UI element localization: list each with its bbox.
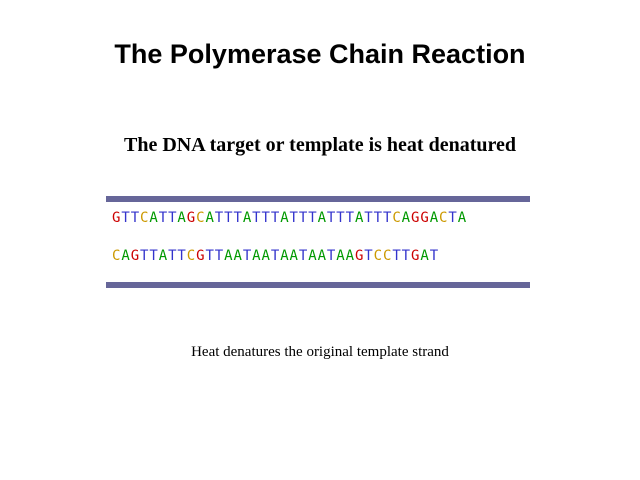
nucleotide-T: T [308, 210, 317, 226]
nucleotide-C: C [439, 210, 448, 226]
nucleotide-A: A [290, 248, 299, 264]
nucleotide-C: C [383, 248, 392, 264]
nucleotide-G: G [420, 210, 429, 226]
nucleotide-G: G [411, 210, 420, 226]
nucleotide-T: T [271, 210, 280, 226]
nucleotide-A: A [336, 248, 345, 264]
bottom-strand-sequence: CAGTTATTCGTTAATAATAATAATAAGTCCTTGAT [112, 248, 530, 264]
nucleotide-T: T [374, 210, 383, 226]
nucleotide-T: T [168, 248, 177, 264]
nucleotide-C: C [187, 248, 196, 264]
nucleotide-C: C [140, 210, 149, 226]
nucleotide-T: T [177, 248, 186, 264]
nucleotide-T: T [327, 210, 336, 226]
nucleotide-T: T [383, 210, 392, 226]
nucleotide-T: T [290, 210, 299, 226]
nucleotide-A: A [177, 210, 186, 226]
nucleotide-A: A [243, 210, 252, 226]
nucleotide-A: A [252, 248, 261, 264]
nucleotide-T: T [243, 248, 252, 264]
bottom-strand-backbone-bar [106, 282, 530, 288]
nucleotide-A: A [458, 210, 467, 226]
slide-subtitle: The DNA target or template is heat denat… [0, 132, 640, 158]
nucleotide-A: A [430, 210, 439, 226]
nucleotide-G: G [187, 210, 196, 226]
nucleotide-C: C [392, 210, 401, 226]
slide-caption: Heat denatures the original template str… [0, 342, 640, 362]
nucleotide-T: T [364, 248, 373, 264]
nucleotide-T: T [205, 248, 214, 264]
nucleotide-A: A [159, 248, 168, 264]
top-strand-sequence: GTTCATTAGCATTTATTTATTTATTTATTTCAGGACTA [112, 210, 530, 226]
nucleotide-T: T [159, 210, 168, 226]
nucleotide-T: T [448, 210, 457, 226]
nucleotide-T: T [430, 248, 439, 264]
nucleotide-A: A [233, 248, 242, 264]
nucleotide-A: A [205, 210, 214, 226]
nucleotide-A: A [121, 248, 130, 264]
nucleotide-T: T [215, 248, 224, 264]
nucleotide-C: C [374, 248, 383, 264]
nucleotide-T: T [262, 210, 271, 226]
page-title: The Polymerase Chain Reaction [0, 38, 640, 70]
nucleotide-T: T [346, 210, 355, 226]
nucleotide-A: A [280, 210, 289, 226]
nucleotide-A: A [262, 248, 271, 264]
nucleotide-A: A [308, 248, 317, 264]
slide-canvas: The Polymerase Chain Reaction The DNA ta… [0, 0, 640, 480]
nucleotide-T: T [271, 248, 280, 264]
nucleotide-T: T [336, 210, 345, 226]
nucleotide-T: T [215, 210, 224, 226]
nucleotide-T: T [140, 248, 149, 264]
nucleotide-G: G [131, 248, 140, 264]
nucleotide-T: T [364, 210, 373, 226]
nucleotide-A: A [420, 248, 429, 264]
nucleotide-A: A [318, 248, 327, 264]
nucleotide-T: T [121, 210, 130, 226]
nucleotide-T: T [149, 248, 158, 264]
nucleotide-T: T [233, 210, 242, 226]
nucleotide-T: T [327, 248, 336, 264]
nucleotide-T: T [299, 210, 308, 226]
nucleotide-T: T [131, 210, 140, 226]
nucleotide-T: T [299, 248, 308, 264]
nucleotide-A: A [318, 210, 327, 226]
nucleotide-G: G [411, 248, 420, 264]
dna-duplex-diagram: GTTCATTAGCATTTATTTATTTATTTATTTCAGGACTA C… [106, 196, 530, 288]
top-strand-backbone-bar [106, 196, 530, 202]
nucleotide-T: T [168, 210, 177, 226]
nucleotide-A: A [402, 210, 411, 226]
nucleotide-G: G [112, 210, 121, 226]
nucleotide-T: T [402, 248, 411, 264]
nucleotide-A: A [355, 210, 364, 226]
nucleotide-C: C [112, 248, 121, 264]
nucleotide-A: A [280, 248, 289, 264]
nucleotide-T: T [392, 248, 401, 264]
nucleotide-T: T [252, 210, 261, 226]
nucleotide-G: G [355, 248, 364, 264]
nucleotide-A: A [149, 210, 158, 226]
nucleotide-A: A [346, 248, 355, 264]
